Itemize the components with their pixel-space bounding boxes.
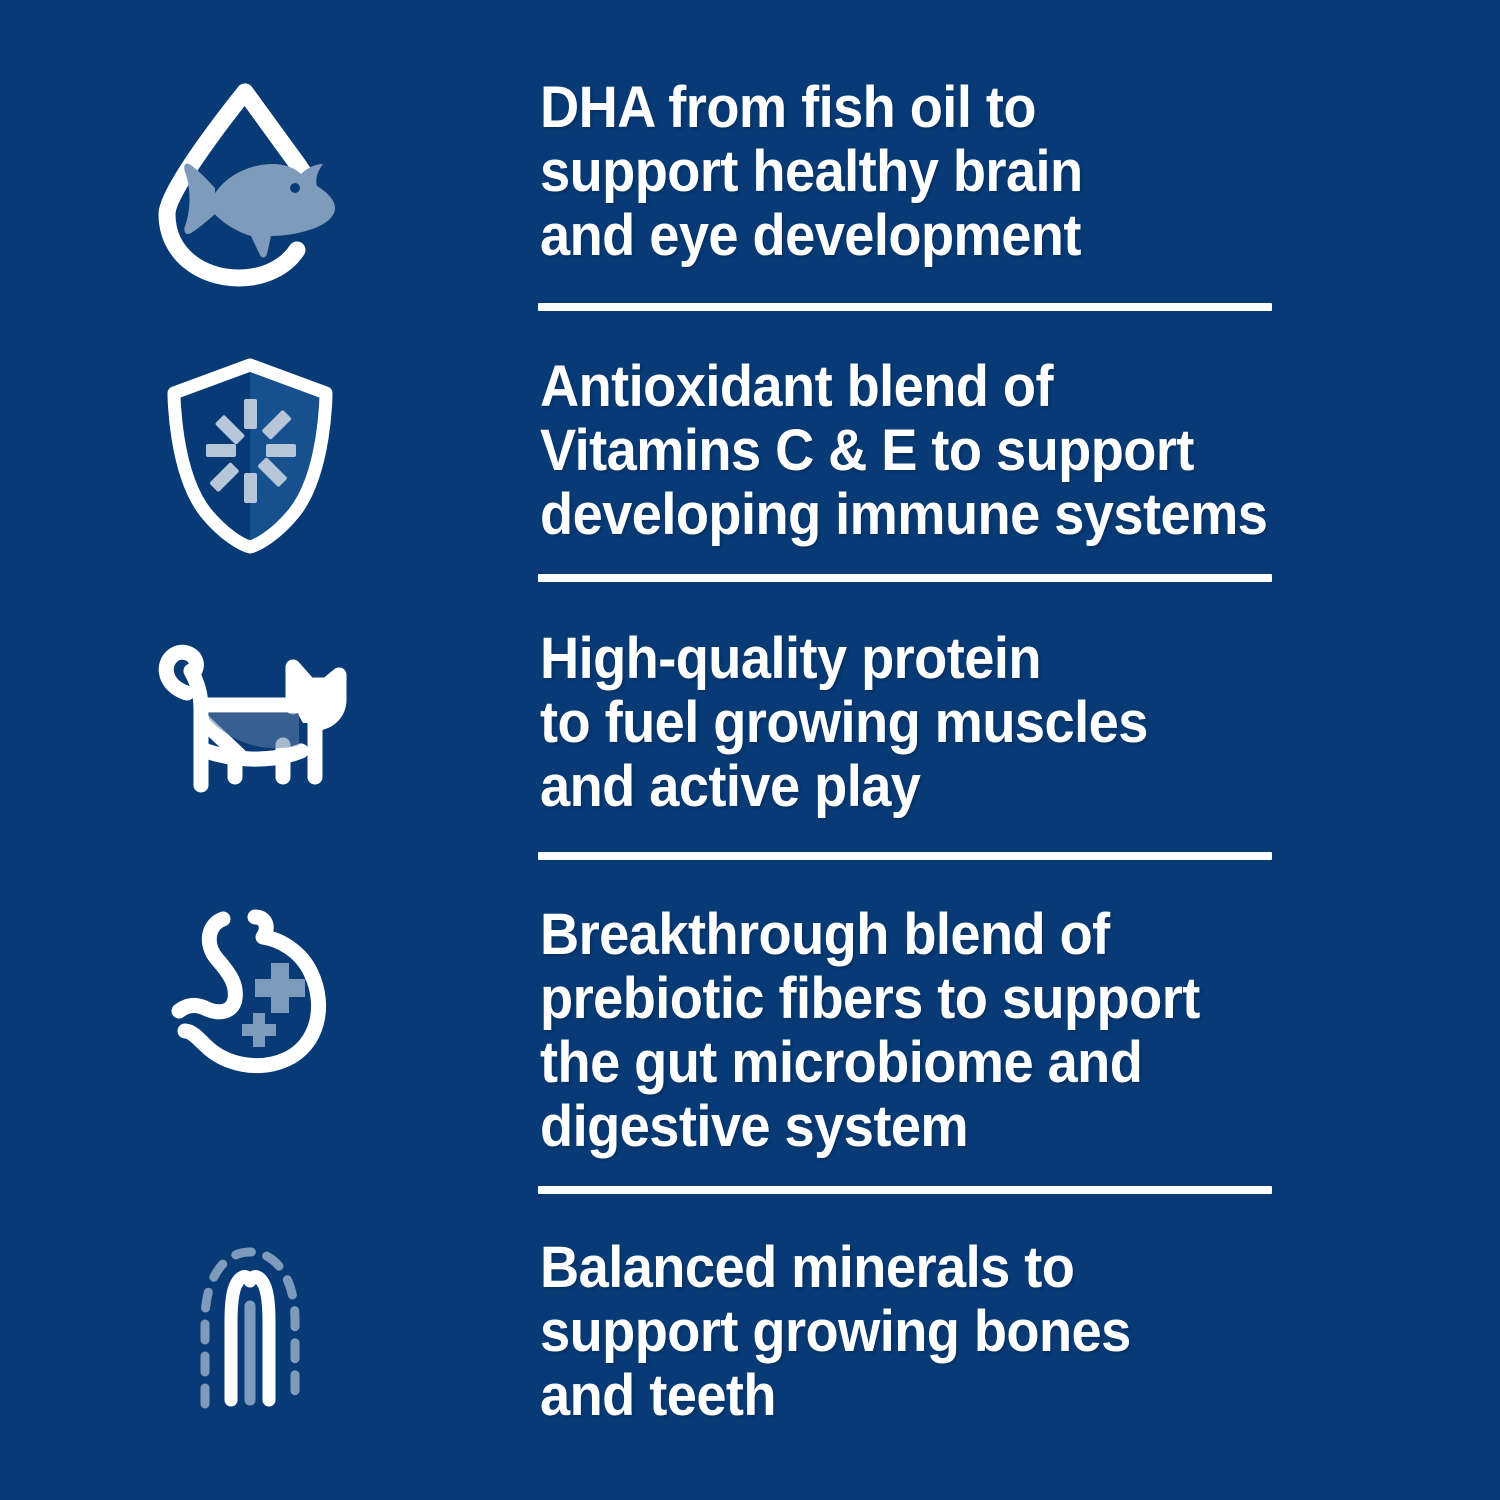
benefits-panel: DHA from fish oil to support healthy bra…: [0, 0, 1500, 1500]
bone-icon: [175, 1236, 325, 1421]
icon-cell: [0, 627, 540, 807]
icon-cell: [0, 355, 540, 560]
shield-sunburst-icon: [160, 355, 340, 560]
benefit-text-protein: High-quality protein to fuel growing mus…: [540, 627, 1438, 819]
divider-3: [538, 852, 1272, 860]
benefit-text-antioxidant: Antioxidant blend of Vitamins C & E to s…: [540, 355, 1438, 547]
benefit-row-antioxidant: Antioxidant blend of Vitamins C & E to s…: [0, 355, 1500, 560]
icon-cell: [0, 903, 540, 1088]
benefit-text-prebiotic: Breakthrough blend of prebiotic fibers t…: [540, 903, 1438, 1159]
divider-4: [538, 1186, 1272, 1194]
icon-cell: [0, 1236, 540, 1421]
icon-cell: [0, 76, 540, 296]
dog-icon: [143, 627, 358, 807]
divider-1: [538, 303, 1272, 311]
text-cell: High-quality protein to fuel growing mus…: [540, 627, 1500, 819]
text-cell: DHA from fish oil to support healthy bra…: [540, 76, 1500, 268]
benefit-row-protein: High-quality protein to fuel growing mus…: [0, 627, 1500, 819]
divider-2: [538, 574, 1272, 582]
benefit-row-dha: DHA from fish oil to support healthy bra…: [0, 76, 1500, 296]
text-cell: Breakthrough blend of prebiotic fibers t…: [540, 903, 1500, 1159]
text-cell: Balanced minerals to support growing bon…: [540, 1236, 1500, 1428]
water-droplet-fish-icon: [145, 76, 355, 296]
benefit-row-minerals: Balanced minerals to support growing bon…: [0, 1236, 1500, 1428]
benefit-row-prebiotic: Breakthrough blend of prebiotic fibers t…: [0, 903, 1500, 1159]
benefit-text-dha: DHA from fish oil to support healthy bra…: [540, 76, 1438, 268]
text-cell: Antioxidant blend of Vitamins C & E to s…: [540, 355, 1500, 547]
stomach-plus-icon: [155, 903, 345, 1088]
benefit-text-minerals: Balanced minerals to support growing bon…: [540, 1236, 1438, 1428]
